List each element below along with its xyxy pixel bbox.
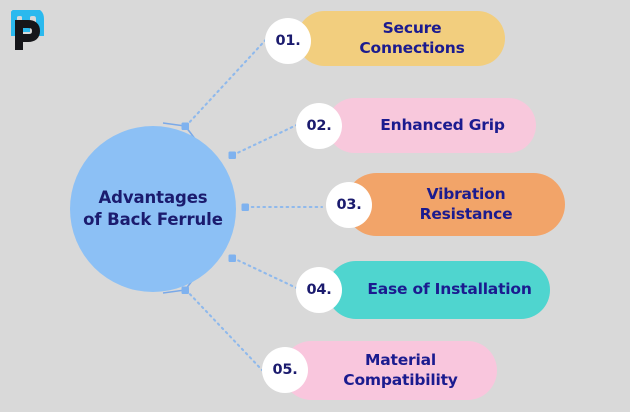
item-pill-4[interactable]: Ease of Installation bbox=[327, 261, 550, 319]
item-number-1: 01. bbox=[275, 33, 300, 49]
item-number-2: 02. bbox=[306, 118, 331, 134]
infographic-canvas: Advantages of Back Ferrule Secure Connec… bbox=[0, 0, 630, 412]
center-circle: Advantages of Back Ferrule bbox=[70, 126, 236, 292]
item-pill-5[interactable]: Material Compatibility bbox=[282, 341, 497, 400]
item-label-2: Enhanced Grip bbox=[327, 116, 536, 135]
item-label-3: Vibration Resistance bbox=[345, 185, 565, 224]
center-label: Advantages of Back Ferrule bbox=[73, 187, 233, 231]
item-number-badge-4: 04. bbox=[296, 267, 342, 313]
item-label-5: Material Compatibility bbox=[282, 351, 497, 390]
pm-logo bbox=[11, 10, 61, 52]
connector-node bbox=[182, 123, 190, 131]
item-label-1: Secure Connections bbox=[297, 19, 505, 58]
item-number-badge-2: 02. bbox=[296, 103, 342, 149]
item-number-badge-3: 03. bbox=[326, 182, 372, 228]
connector-node bbox=[182, 287, 190, 295]
connector-node bbox=[229, 152, 237, 160]
item-pill-3[interactable]: Vibration Resistance bbox=[345, 173, 565, 236]
item-number-badge-1: 01. bbox=[265, 18, 311, 64]
item-number-badge-5: 05. bbox=[262, 347, 308, 393]
item-number-4: 04. bbox=[306, 282, 331, 298]
item-number-3: 03. bbox=[336, 197, 361, 213]
item-pill-1[interactable]: Secure Connections bbox=[297, 11, 505, 66]
item-number-5: 05. bbox=[272, 362, 297, 378]
item-pill-2[interactable]: Enhanced Grip bbox=[327, 98, 536, 153]
connector-node bbox=[242, 204, 250, 212]
connector-node bbox=[229, 255, 237, 263]
item-label-4: Ease of Installation bbox=[327, 280, 550, 299]
pm-logo-icon bbox=[11, 10, 61, 52]
